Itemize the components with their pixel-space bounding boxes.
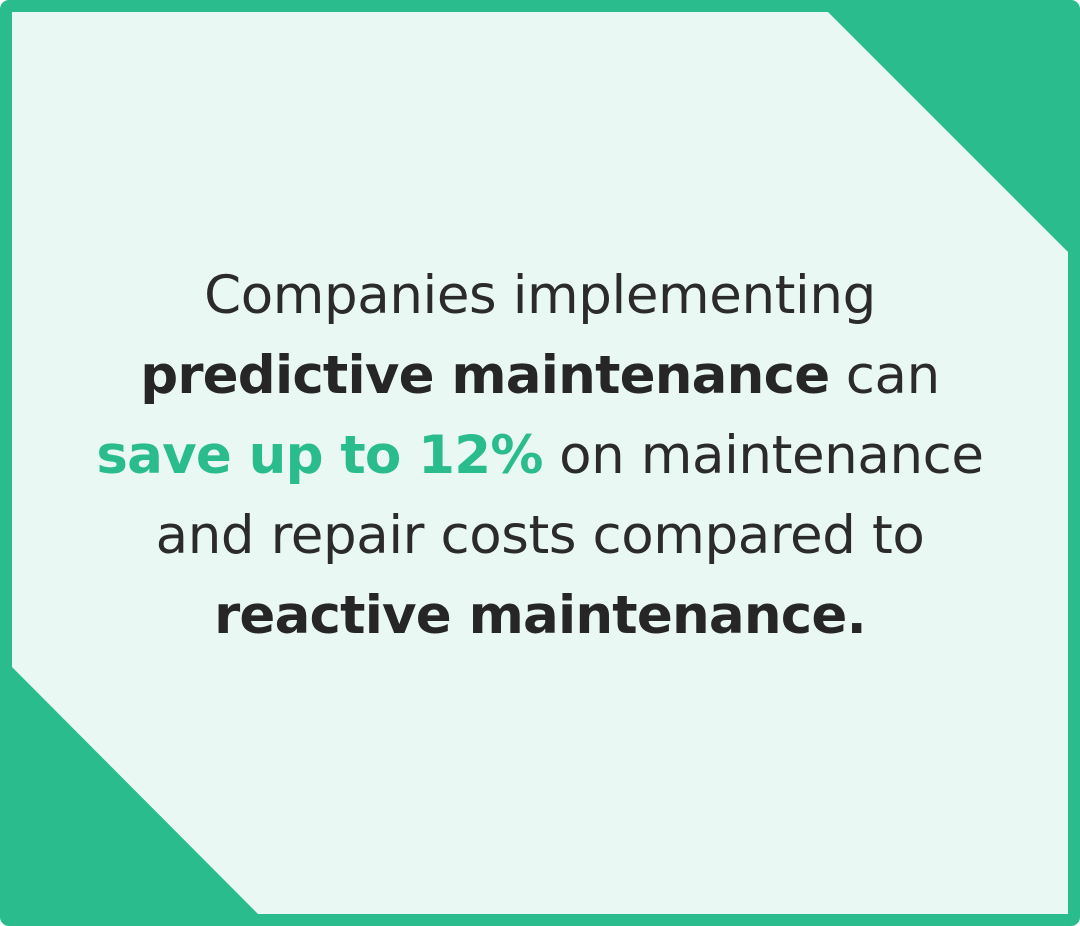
quote-segment-bold: predictive maintenance — [140, 345, 829, 406]
card-inner-panel: Companies implementingpredictive mainten… — [12, 12, 1068, 914]
quote-line: predictive maintenance can — [96, 336, 983, 416]
quote-segment-regular: Companies implementing — [204, 265, 876, 326]
quote-segment-bold: reactive maintenance. — [214, 585, 866, 646]
quote-segment-regular: and repair costs compared to — [156, 505, 925, 566]
quote-block: Companies implementingpredictive mainten… — [12, 12, 1068, 914]
stat-callout-card: Companies implementingpredictive mainten… — [0, 0, 1080, 926]
quote-text: Companies implementingpredictive mainten… — [96, 256, 983, 670]
quote-segment-regular: on maintenance — [543, 425, 984, 486]
quote-line: save up to 12% on maintenance — [96, 416, 983, 496]
quote-line: reactive maintenance. — [96, 576, 983, 656]
quote-segment-regular: can — [829, 345, 939, 406]
quote-line: Companies implementing — [96, 256, 983, 336]
quote-segment-accent: save up to 12% — [96, 425, 542, 486]
quote-line: and repair costs compared to — [96, 496, 983, 576]
